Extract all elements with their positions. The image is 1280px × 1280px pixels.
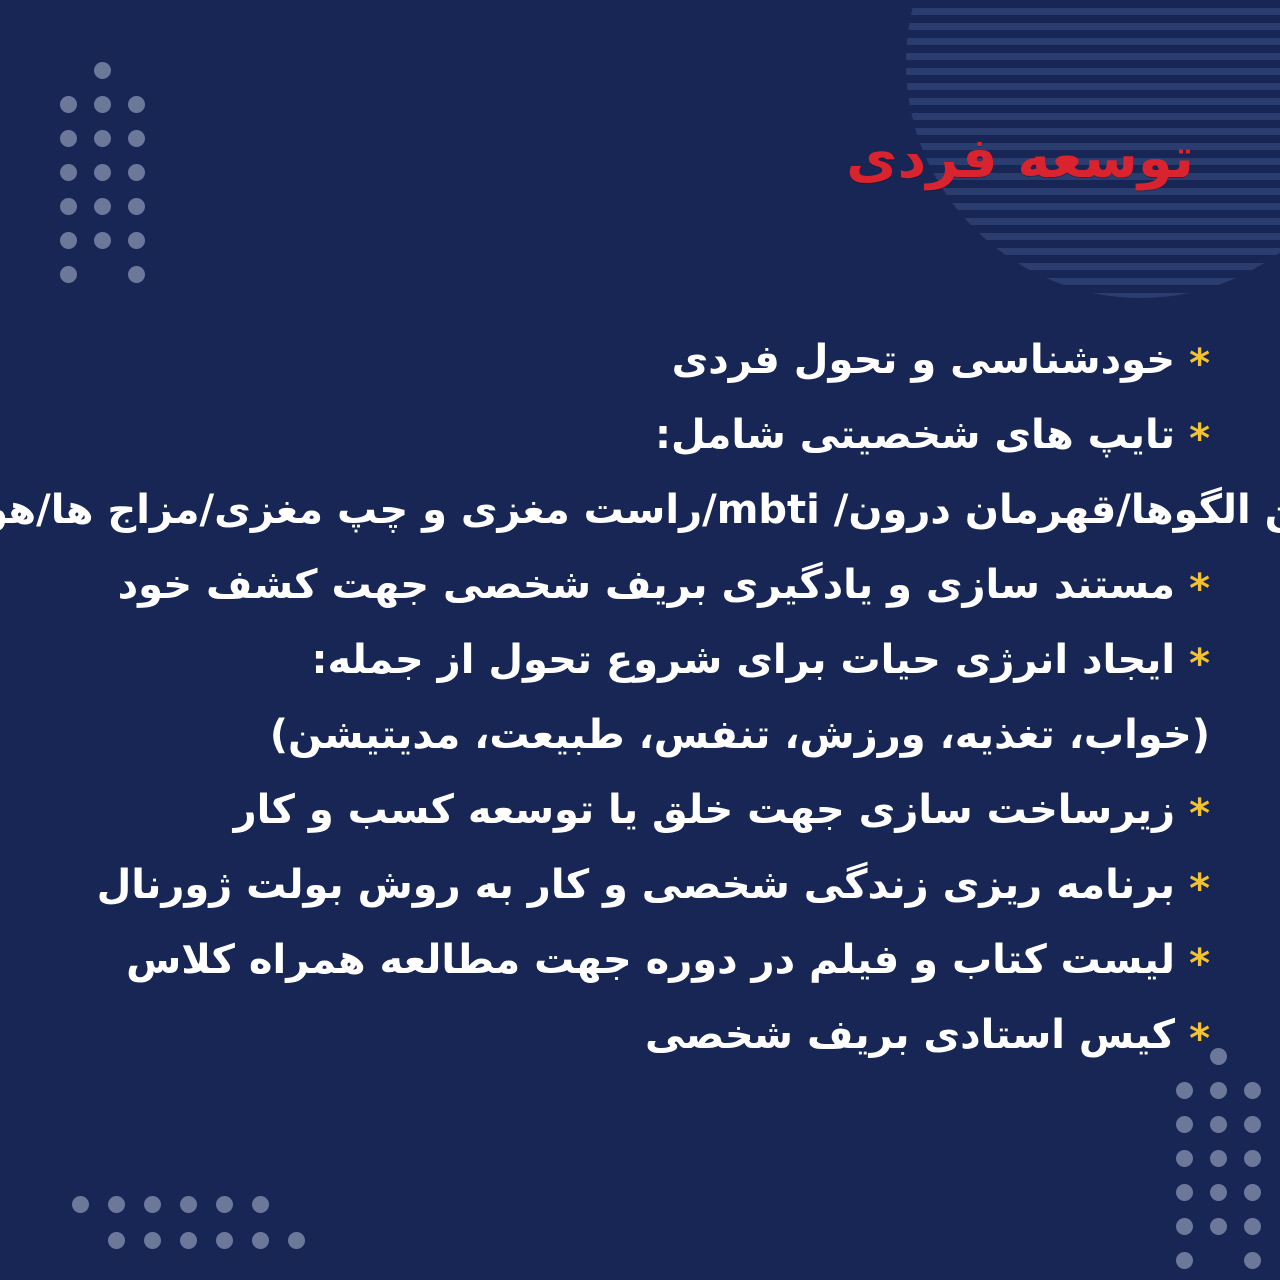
decorative-dot <box>144 1196 161 1213</box>
decorative-dot <box>128 232 145 249</box>
decorative-dot <box>252 1196 269 1213</box>
decorative-dot <box>128 266 145 283</box>
list-item-label: ایجاد انرژی حیات برای شروع تحول از جمله: <box>312 640 1176 680</box>
decorative-dot <box>1176 1116 1193 1133</box>
decorative-dot <box>1244 1252 1261 1269</box>
decorative-dot <box>180 1232 197 1249</box>
decorative-dot <box>60 266 77 283</box>
decorative-dot <box>128 96 145 113</box>
decorative-dot <box>1176 1252 1193 1269</box>
asterisk-bullet-icon: * <box>1189 569 1210 609</box>
list-item-label: خودشناسی و تحول فردی <box>672 340 1175 380</box>
list-item-label: (خواب، تغذیه، ورزش، تنفس، طبیعت، مدیتیشن… <box>270 715 1210 755</box>
list-item-label: برنامه ریزی زندگی شخصی و کار به روش بولت… <box>97 865 1175 905</box>
decorative-dot <box>216 1232 233 1249</box>
decorative-dot <box>252 1232 269 1249</box>
decorative-dot <box>94 164 111 181</box>
list-item-label: کیس استادی بریف شخصی <box>645 1015 1175 1055</box>
decorative-dot <box>1210 1218 1227 1235</box>
decorative-dot <box>1210 1184 1227 1201</box>
decorative-dot <box>1176 1150 1193 1167</box>
asterisk-bullet-icon: * <box>1189 419 1210 459</box>
list-item: *زیرساخت سازی جهت خلق یا توسعه کسب و کار <box>20 790 1210 865</box>
asterisk-bullet-icon: * <box>1189 794 1210 834</box>
decorative-dot <box>94 198 111 215</box>
list-item: *برنامه ریزی زندگی شخصی و کار به روش بول… <box>20 865 1210 940</box>
decorative-dot <box>60 164 77 181</box>
asterisk-bullet-icon: * <box>1189 1019 1210 1059</box>
decorative-dot <box>1176 1218 1193 1235</box>
asterisk-bullet-icon: * <box>1189 644 1210 684</box>
decorative-dot <box>1244 1116 1261 1133</box>
decorative-dot <box>94 96 111 113</box>
decorative-dot <box>72 1196 89 1213</box>
decorative-dot <box>288 1232 305 1249</box>
list-item-label: تایپ های شخصیتی شامل: <box>655 415 1175 455</box>
list-item: *لیست کتاب و فیلم در دوره جهت مطالعه همر… <box>20 940 1210 1015</box>
list-item: (کهن الگوها/قهرمان درون/ mbti/راست مغزی … <box>20 490 1220 565</box>
decorative-dot <box>1244 1218 1261 1235</box>
decorative-dot <box>1244 1150 1261 1167</box>
decorative-dot <box>60 96 77 113</box>
list-item-label: مستند سازی و یادگیری بریف شخصی جهت کشف خ… <box>118 565 1175 605</box>
decorative-dot <box>1210 1150 1227 1167</box>
decorative-dot <box>216 1196 233 1213</box>
slide-canvas: توسعه فردی *خودشناسی و تحول فردی*تایپ ها… <box>0 0 1280 1280</box>
asterisk-bullet-icon: * <box>1189 869 1210 909</box>
dot-grid-top-left <box>60 62 170 272</box>
decorative-dot <box>94 232 111 249</box>
decorative-dot <box>128 198 145 215</box>
list-item-label: (کهن الگوها/قهرمان درون/ mbti/راست مغزی … <box>0 490 1280 530</box>
asterisk-bullet-icon: * <box>1189 944 1210 984</box>
decorative-dot <box>144 1232 161 1249</box>
decorative-dot <box>108 1196 125 1213</box>
decorative-dot <box>60 232 77 249</box>
asterisk-bullet-icon: * <box>1189 344 1210 384</box>
decorative-dot <box>60 198 77 215</box>
decorative-dot <box>60 130 77 147</box>
decorative-dot <box>94 130 111 147</box>
decorative-dot <box>94 62 111 79</box>
decorative-dot <box>1244 1184 1261 1201</box>
decorative-dot <box>108 1232 125 1249</box>
decorative-dot <box>180 1196 197 1213</box>
list-item: *خودشناسی و تحول فردی <box>20 340 1210 415</box>
list-item: *کیس استادی بریف شخصی <box>20 1015 1210 1090</box>
page-title: توسعه فردی <box>846 128 1194 190</box>
list-item-label: زیرساخت سازی جهت خلق یا توسعه کسب و کار <box>234 790 1175 830</box>
list-item: *تایپ های شخصیتی شامل: <box>20 415 1210 490</box>
decorative-dot <box>1210 1116 1227 1133</box>
content-bullet-list: *خودشناسی و تحول فردی*تایپ های شخصیتی شا… <box>0 340 1280 1090</box>
list-item: *ایجاد انرژی حیات برای شروع تحول از جمله… <box>20 640 1210 715</box>
decorative-dot <box>1176 1184 1193 1201</box>
decorative-dot <box>128 164 145 181</box>
list-item: *مستند سازی و یادگیری بریف شخصی جهت کشف … <box>20 565 1210 640</box>
list-item: (خواب، تغذیه، ورزش، تنفس، طبیعت، مدیتیشن… <box>20 715 1210 790</box>
decorative-dot <box>128 130 145 147</box>
list-item-label: لیست کتاب و فیلم در دوره جهت مطالعه همرا… <box>126 940 1175 980</box>
dot-grid-bottom-left <box>72 1196 312 1266</box>
